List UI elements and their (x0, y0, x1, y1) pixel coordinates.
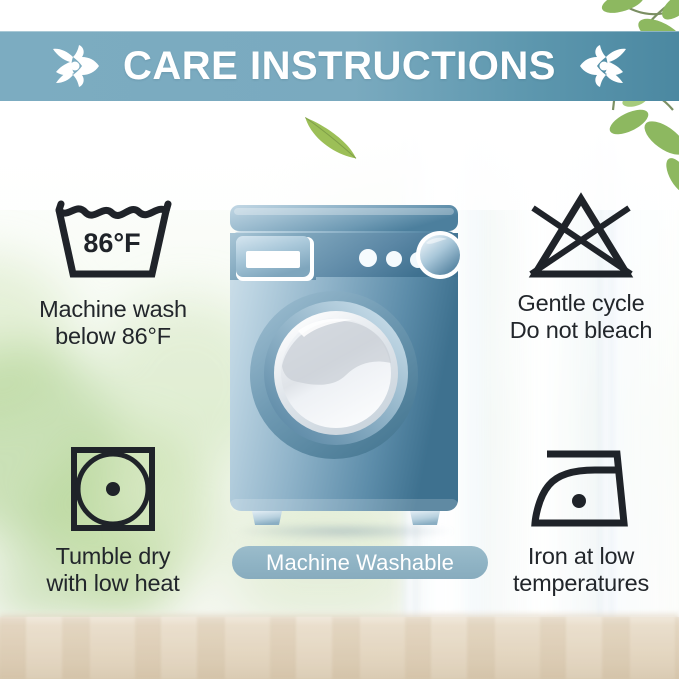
wash-tub-icon: 86°F (49, 196, 177, 288)
care-item-gentle-cycle-no-bleach: Gentle cycle Do not bleach (471, 190, 679, 345)
wood-table-surface (0, 617, 679, 679)
do-not-bleach-triangle-icon (521, 190, 641, 282)
machine-door[interactable] (250, 291, 418, 459)
machine-foot-left (252, 511, 282, 525)
tumble-dry-low-icon (65, 443, 161, 535)
wood-grain-texture (0, 617, 679, 679)
washing-machine-illustration (228, 203, 460, 533)
care-caption: Gentle cycle Do not bleach (510, 290, 652, 345)
care-item-machine-wash: 86°F Machine wash below 86°F (3, 196, 223, 351)
care-item-iron-low: Iron at low temperatures (471, 443, 679, 598)
badge-label: Machine Washable (266, 552, 454, 574)
iron-low-heat-icon (521, 443, 641, 535)
fleur-de-lis-icon (51, 43, 103, 89)
indicator-light[interactable] (359, 249, 377, 267)
detergent-drawer[interactable] (236, 236, 314, 281)
machine-bottom-edge (230, 499, 458, 511)
care-item-tumble-dry-low: Tumble dry with low heat (3, 443, 223, 598)
care-caption: Iron at low temperatures (513, 543, 649, 598)
fleur-de-lis-icon (576, 43, 628, 89)
care-caption: Machine wash below 86°F (39, 296, 187, 351)
wash-temperature-value: 86°F (83, 228, 140, 258)
page-title: CARE INSTRUCTIONS (123, 46, 556, 86)
indicator-light[interactable] (386, 251, 402, 267)
machine-washable-badge: Machine Washable (232, 546, 488, 579)
care-caption: Tumble dry with low heat (46, 543, 179, 598)
header-banner: CARE INSTRUCTIONS (0, 31, 679, 101)
machine-top-highlight (234, 208, 454, 215)
care-instructions-graphic: CARE INSTRUCTIONS 86°F Machine wash belo… (0, 0, 679, 679)
machine-foot-right (410, 511, 440, 525)
